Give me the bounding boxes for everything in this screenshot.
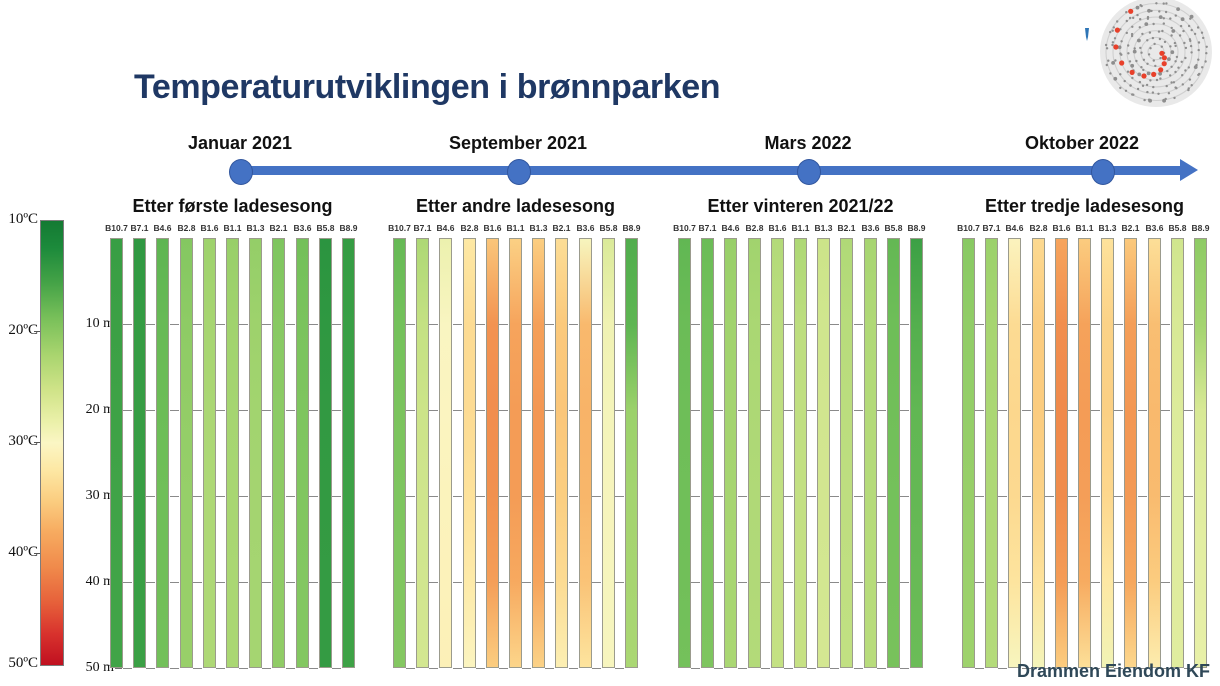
borehole-column-B7.1[interactable] [133,238,146,668]
borehole-column-B2.1[interactable] [272,238,285,668]
panel-tick [854,668,863,669]
borehole-label-B10.7: B10.7 [957,223,980,233]
panel-tick [429,668,438,669]
borehole-column-B2.8[interactable] [748,238,761,668]
panel-tick [615,668,624,669]
borehole-label-B10.7: B10.7 [673,223,696,233]
panel-tick [900,668,909,669]
borehole-label-B2.1: B2.1 [553,223,571,233]
borehole-column-B1.3[interactable] [817,238,830,668]
borehole-label-B1.3: B1.3 [530,223,548,233]
panel-tick [453,668,462,669]
borehole-label-B2.1: B2.1 [838,223,856,233]
panel-tick [309,668,318,669]
borehole-column-B5.8[interactable] [602,238,615,668]
borehole-column-group [962,238,1207,668]
borehole-label-B1.6: B1.6 [484,223,502,233]
borehole-column-B2.8[interactable] [180,238,193,668]
panel-tick [123,668,132,669]
borehole-label-row: B10.7B7.1B4.6B2.8B1.6B1.1B1.3B2.1B3.6B5.… [393,223,638,237]
borehole-label-B8.9: B8.9 [1192,223,1210,233]
colorbar-tick-label-1: 20ºC [0,322,38,339]
borehole-label-B1.3: B1.3 [815,223,833,233]
borehole-column-B4.6[interactable] [439,238,452,668]
borehole-label-B3.6: B3.6 [294,223,312,233]
borehole-label-B1.1: B1.1 [1076,223,1094,233]
panel-tick [830,668,839,669]
panel-tick [592,668,601,669]
borehole-label-B1.1: B1.1 [507,223,525,233]
timeline-label-3: Oktober 2022 [1025,133,1139,154]
borehole-label-row: B10.7B7.1B4.6B2.8B1.6B1.1B1.3B2.1B3.6B5.… [962,223,1207,237]
panel-tick [286,668,295,669]
borehole-label-B5.8: B5.8 [885,223,903,233]
panel-tick [714,668,723,669]
panel-tick [239,668,248,669]
colorbar-tick-2 [34,442,40,443]
panel-tick [545,668,554,669]
panel-tick [406,668,415,669]
borehole-label-B4.6: B4.6 [722,223,740,233]
borehole-label-B8.9: B8.9 [908,223,926,233]
panel-januar-2021: Etter første ladesesongB10.7B7.1B4.6B2.8… [110,196,355,674]
colorbar-tick-label-2: 30ºC [0,433,38,450]
panel-tick [877,668,886,669]
borehole-label-B2.8: B2.8 [461,223,479,233]
borehole-column-B2.8[interactable] [1032,238,1045,668]
panel-tick [146,668,155,669]
panel-tick [170,668,179,669]
panel-tick [691,668,700,669]
borehole-label-row: B10.7B7.1B4.6B2.8B1.6B1.1B1.3B2.1B3.6B5.… [678,223,923,237]
panel-title: Etter tredje ladesesong [985,196,1184,217]
borehole-column-B1.6[interactable] [486,238,499,668]
borehole-column-B2.1[interactable] [840,238,853,668]
borehole-column-B8.9[interactable] [910,238,923,668]
timeline-dot-3[interactable] [1091,159,1115,185]
panel-title: Etter vinteren 2021/22 [707,196,893,217]
borehole-label-B2.8: B2.8 [746,223,764,233]
page-title: Temperaturutviklingen i brønnparken [134,68,720,107]
timeline-line [237,166,1187,175]
borehole-label-B4.6: B4.6 [437,223,455,233]
borehole-column-B3.6[interactable] [296,238,309,668]
panel-oktober-2022: Etter tredje ladesesongB10.7B7.1B4.6B2.8… [962,196,1207,674]
timeline-arrow-icon [1180,159,1198,181]
panel-september-2021: Etter andre ladesesongB10.7B7.1B4.6B2.8B… [393,196,638,674]
borehole-label-B5.8: B5.8 [600,223,618,233]
borehole-label-B1.1: B1.1 [224,223,242,233]
colorbar-tick-1 [34,331,40,332]
panel-tick [975,668,984,669]
borehole-label-B3.6: B3.6 [1146,223,1164,233]
borehole-column-B2.8[interactable] [463,238,476,668]
borehole-column-B4.6[interactable] [1008,238,1021,668]
borehole-column-B8.9[interactable] [1194,238,1207,668]
panel-title: Etter første ladesesong [132,196,332,217]
borehole-column-B3.6[interactable] [1148,238,1161,668]
borehole-field-spiral-map-icon [1094,0,1218,112]
panel-mars-2022: Etter vinteren 2021/22B10.7B7.1B4.6B2.8B… [678,196,923,674]
panel-tick [569,668,578,669]
borehole-column-B10.7[interactable] [393,238,406,668]
borehole-label-B1.6: B1.6 [1053,223,1071,233]
panel-tick [193,668,202,669]
panel-tick [784,668,793,669]
borehole-label-B3.6: B3.6 [862,223,880,233]
borehole-column-B7.1[interactable] [416,238,429,668]
borehole-label-B1.6: B1.6 [201,223,219,233]
borehole-column-B1.1[interactable] [794,238,807,668]
colorbar-tick-label-4: 50ºC [0,655,38,672]
borehole-label-B8.9: B8.9 [623,223,641,233]
borehole-column-B3.6[interactable] [579,238,592,668]
borehole-column-group [393,238,638,668]
colorbar-tick-label-0: 10ºC [0,211,38,228]
borehole-label-B4.6: B4.6 [154,223,172,233]
borehole-column-B8.9[interactable] [342,238,355,668]
borehole-column-B1.6[interactable] [1055,238,1068,668]
panel-tick [499,668,508,669]
panel-tick [216,668,225,669]
borehole-label-B7.1: B7.1 [699,223,717,233]
borehole-column-B2.1[interactable] [555,238,568,668]
borehole-label-B2.1: B2.1 [270,223,288,233]
borehole-label-row: B10.7B7.1B4.6B2.8B1.6B1.1B1.3B2.1B3.6B5.… [110,223,355,237]
borehole-label-B3.6: B3.6 [577,223,595,233]
borehole-column-B8.9[interactable] [625,238,638,668]
logo-marker-icon [1082,28,1092,42]
panel-tick [476,668,485,669]
colorbar-gradient [40,220,64,666]
borehole-label-B2.8: B2.8 [178,223,196,233]
borehole-column-B1.6[interactable] [771,238,784,668]
borehole-column-B1.1[interactable] [1078,238,1091,668]
panel-tick [807,668,816,669]
borehole-label-B7.1: B7.1 [983,223,1001,233]
borehole-label-B7.1: B7.1 [131,223,149,233]
footer-organisation: Drammen Eiendom KF [1017,661,1210,682]
slide-canvas: Temperaturutviklingen i brønnparken Janu… [0,0,1220,686]
borehole-label-B5.8: B5.8 [317,223,335,233]
panel-tick [262,668,271,669]
borehole-label-B7.1: B7.1 [414,223,432,233]
borehole-column-B5.8[interactable] [319,238,332,668]
borehole-label-B1.6: B1.6 [769,223,787,233]
panel-tick [738,668,747,669]
borehole-column-B4.6[interactable] [156,238,169,668]
borehole-column-B10.7[interactable] [110,238,123,668]
timeline-dot-0[interactable] [229,159,253,185]
borehole-column-B1.6[interactable] [203,238,216,668]
borehole-label-B2.1: B2.1 [1122,223,1140,233]
borehole-label-B4.6: B4.6 [1006,223,1024,233]
borehole-column-group [678,238,923,668]
borehole-column-B5.8[interactable] [1171,238,1184,668]
borehole-column-B2.1[interactable] [1124,238,1137,668]
panel-tick [998,668,1007,669]
borehole-column-B1.3[interactable] [1101,238,1114,668]
timeline-dot-1[interactable] [507,159,531,185]
timeline-dot-2[interactable] [797,159,821,185]
colorbar-tick-label-3: 40ºC [0,544,38,561]
borehole-column-B7.1[interactable] [701,238,714,668]
borehole-column-B10.7[interactable] [962,238,975,668]
borehole-label-B1.3: B1.3 [1099,223,1117,233]
borehole-label-B1.1: B1.1 [792,223,810,233]
borehole-column-B7.1[interactable] [985,238,998,668]
borehole-label-B10.7: B10.7 [388,223,411,233]
borehole-column-B1.3[interactable] [249,238,262,668]
colorbar-tick-3 [34,553,40,554]
borehole-column-B1.3[interactable] [532,238,545,668]
borehole-column-B3.6[interactable] [864,238,877,668]
borehole-label-B2.8: B2.8 [1030,223,1048,233]
borehole-label-B1.3: B1.3 [247,223,265,233]
panel-tick [522,668,531,669]
panel-title: Etter andre ladesesong [416,196,615,217]
borehole-column-B10.7[interactable] [678,238,691,668]
panel-tick [761,668,770,669]
timeline-label-0: Januar 2021 [188,133,292,154]
timeline-label-1: September 2021 [449,133,587,154]
borehole-column-B5.8[interactable] [887,238,900,668]
temperature-colorbar: 10ºC20ºC30ºC40ºC50ºC [0,212,70,672]
borehole-column-B1.1[interactable] [226,238,239,668]
borehole-label-B5.8: B5.8 [1169,223,1187,233]
borehole-column-B1.1[interactable] [509,238,522,668]
borehole-label-B10.7: B10.7 [105,223,128,233]
borehole-label-B8.9: B8.9 [340,223,358,233]
borehole-column-B4.6[interactable] [724,238,737,668]
panel-tick [332,668,341,669]
timeline-label-2: Mars 2022 [764,133,851,154]
borehole-column-group [110,238,355,668]
